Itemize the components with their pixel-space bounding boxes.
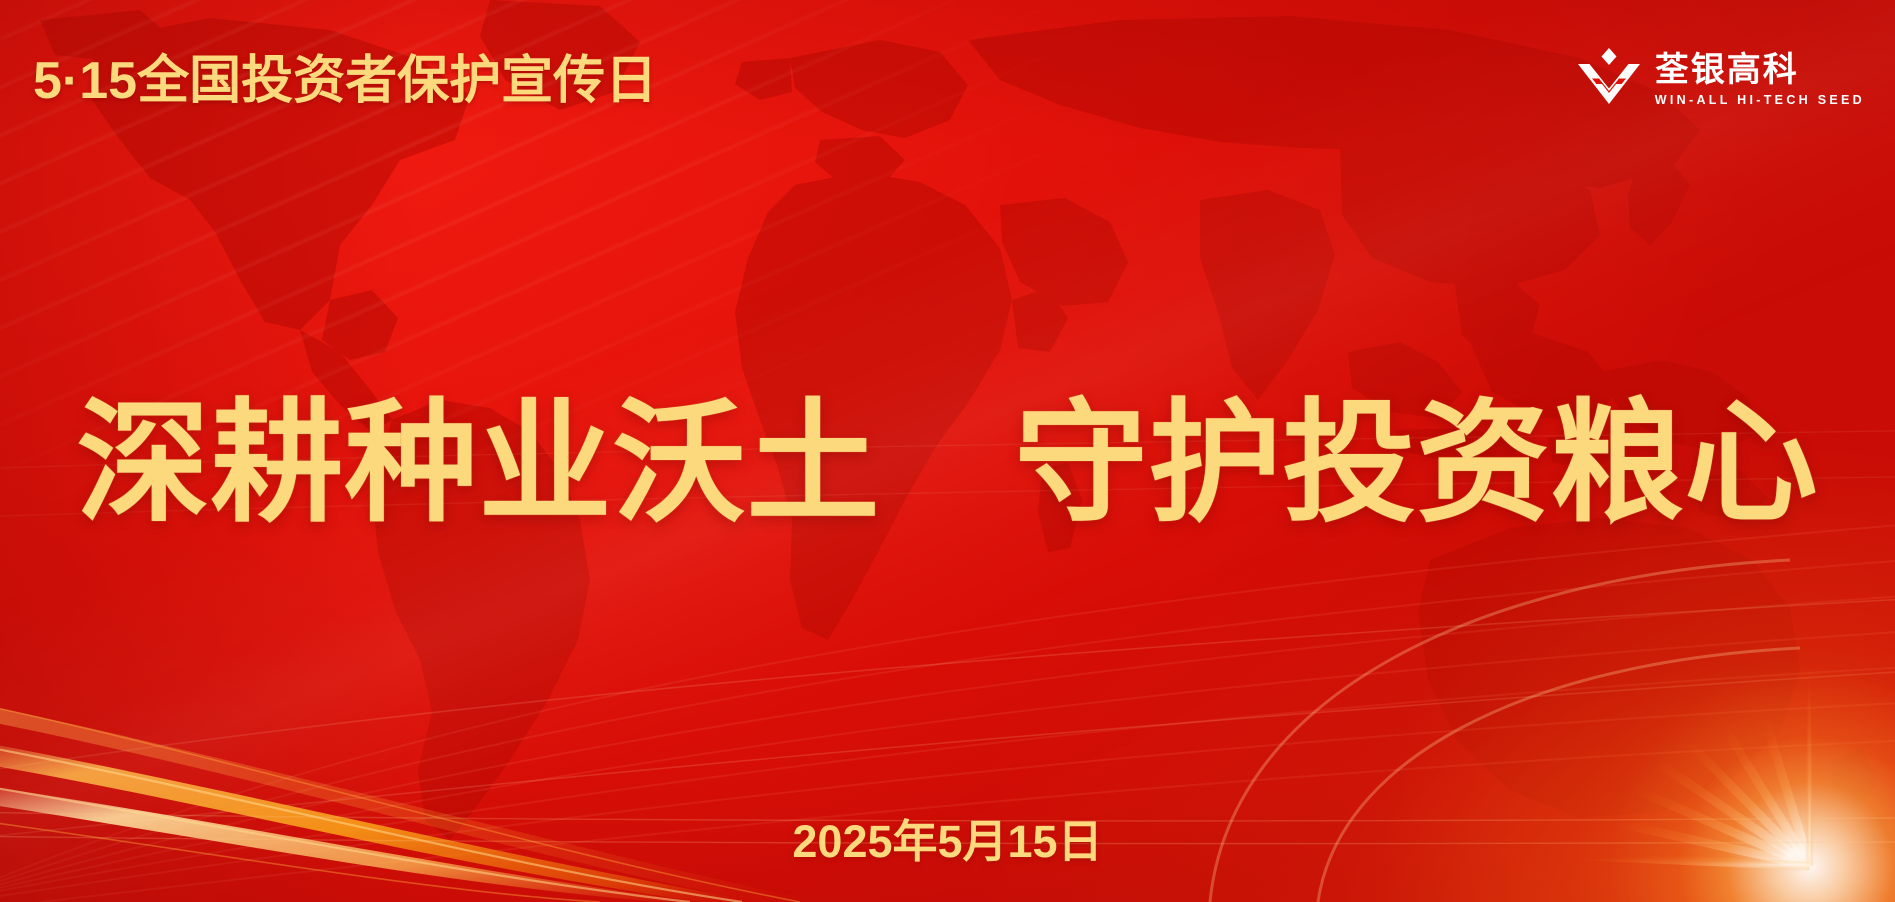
- main-headline: 深耕种业沃土 守护投资粮心: [0, 398, 1895, 531]
- campaign-title: 5·15全国投资者保护宣传日: [33, 52, 657, 110]
- logo-text-block: 荃银高科 WIN-ALL HI-TECH SEED: [1655, 53, 1865, 107]
- company-logo: 荃银高科 WIN-ALL HI-TECH SEED: [1578, 48, 1865, 112]
- winall-chevron-logo-icon: [1578, 48, 1640, 112]
- investor-protection-banner: 5·15全国投资者保护宣传日 荃银高科 WIN-ALL HI-TECH SEED…: [0, 0, 1895, 902]
- event-date: 2025年5月15日: [0, 805, 1895, 870]
- logo-name-en: WIN-ALL HI-TECH SEED: [1655, 93, 1865, 107]
- logo-name-cn: 荃银高科: [1655, 53, 1865, 88]
